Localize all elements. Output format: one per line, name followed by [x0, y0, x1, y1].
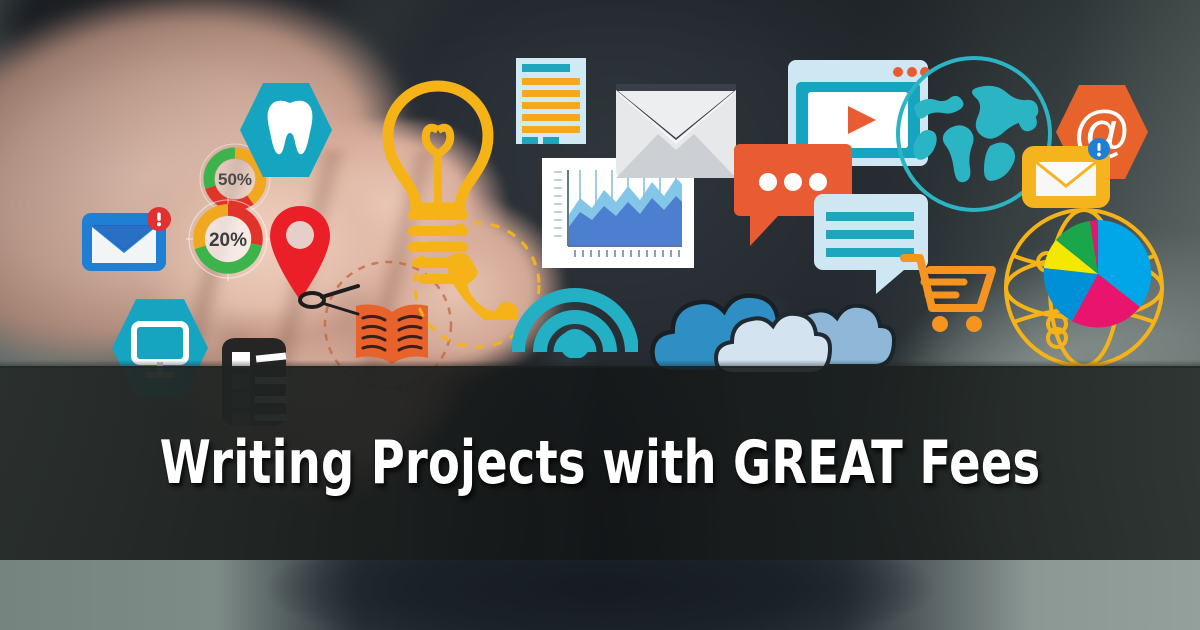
envelope-orange-icon: [1020, 134, 1116, 212]
wifi-signal-icon: [512, 272, 638, 358]
email-alert-icon: [80, 205, 176, 277]
page-title: Writing Projects with GREAT Fees: [160, 428, 1041, 498]
phone-handset-icon: [438, 248, 518, 320]
pie-chart-icon: [1042, 218, 1154, 330]
title-band: Writing Projects with GREAT Fees: [0, 366, 1200, 560]
banner-canvas: 50% 20%: [0, 0, 1200, 630]
scissors-icon: [298, 280, 362, 320]
bottom-photo-strip: [0, 560, 1200, 630]
document-icon: [512, 56, 592, 148]
gauge-20-icon: 20%: [185, 196, 271, 282]
shopping-cart-icon: [900, 248, 998, 334]
gauge-20-value: 20%: [209, 230, 247, 251]
tooth-hexagon-icon: [240, 80, 332, 180]
envelope-gray-icon: [614, 82, 738, 180]
